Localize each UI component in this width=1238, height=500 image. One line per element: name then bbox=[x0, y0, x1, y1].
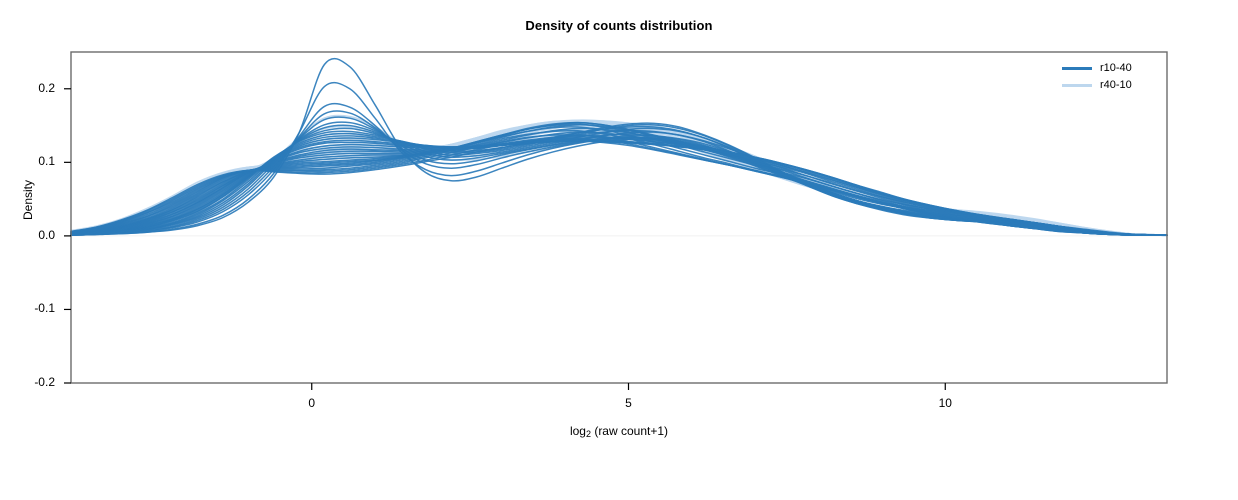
y-tick-label-0: -0.2 bbox=[15, 375, 55, 389]
y-tick-label-1: -0.1 bbox=[15, 301, 55, 315]
density-curve bbox=[71, 83, 1167, 236]
x-axis-label-main: log bbox=[570, 424, 586, 438]
y-tick-label-2: 0.0 bbox=[15, 228, 55, 242]
legend-label-1: r40-10 bbox=[1100, 80, 1132, 91]
y-tick-label-4: 0.2 bbox=[15, 81, 55, 95]
x-tick-label-2: 10 bbox=[925, 396, 965, 410]
y-tick-label-3: 0.1 bbox=[15, 154, 55, 168]
legend-swatch-r10-40 bbox=[1062, 67, 1092, 70]
x-axis-label-rest: (raw count+1) bbox=[591, 424, 668, 438]
x-tick-label-0: 0 bbox=[292, 396, 332, 410]
density-curves-layer bbox=[71, 59, 1167, 236]
x-axis-label-sub: 2 bbox=[586, 429, 591, 439]
legend: r10-40 r40-10 bbox=[1062, 60, 1132, 94]
legend-item-1[interactable]: r40-10 bbox=[1062, 77, 1132, 94]
x-tick-label-1: 5 bbox=[609, 396, 649, 410]
legend-swatch-r40-10 bbox=[1062, 84, 1092, 87]
density-plot-figure: Density of counts distribution Density l… bbox=[0, 0, 1238, 500]
legend-item-0[interactable]: r10-40 bbox=[1062, 60, 1132, 77]
legend-label-0: r10-40 bbox=[1100, 63, 1132, 74]
x-axis-label: log2 (raw count+1) bbox=[0, 424, 1238, 438]
